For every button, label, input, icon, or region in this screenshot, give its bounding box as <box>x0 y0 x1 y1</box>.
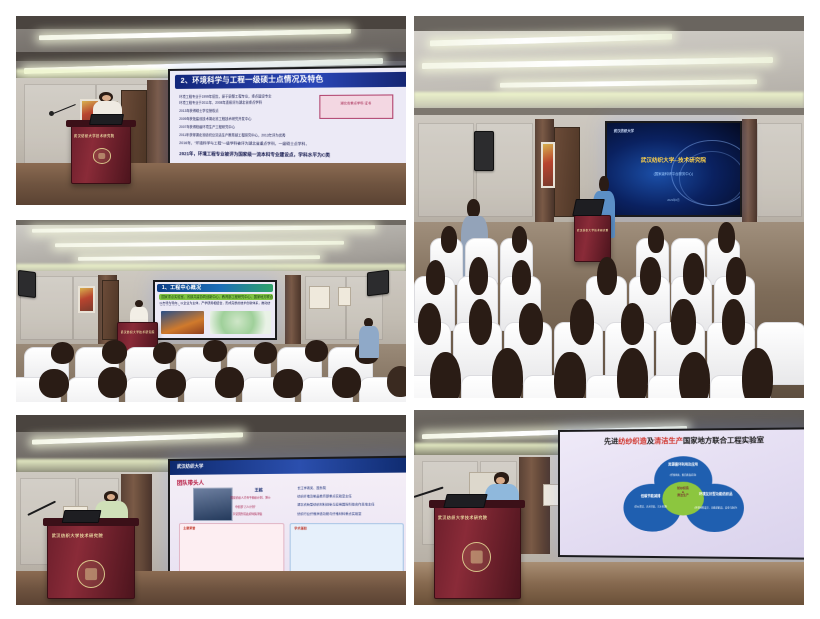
lectern: 武汉纺织大学技术研究院 <box>574 215 611 263</box>
slide-map-image <box>210 311 270 334</box>
slide-bullet: 湖北省新型纺织材料创新与应用国际科技合作基地主任 <box>297 502 374 506</box>
slide-line: 2021年，环境工程专业被评为国家级一流本科专业建设点，学科水平为C类 <box>179 151 385 159</box>
slide-line: 以市场为导向，以企业为主体，产学研用相结合，形成完整的技术创新体系，推动纺织行业… <box>159 301 270 306</box>
speaker-icon <box>18 270 36 298</box>
university-seal-icon <box>462 542 491 572</box>
slide-screen: 2、环境科学与工程一级硕士点情况及特色 环境工程专业于1999年招生，原于染整工… <box>168 65 406 175</box>
laptop-icon <box>572 199 605 216</box>
university-seal-icon <box>93 148 111 163</box>
laptop-icon <box>89 114 124 125</box>
leader-title: 享受国务院政府特殊津贴 <box>233 511 288 515</box>
laptop-icon <box>61 510 101 523</box>
lectern-label: 武汉纺织大学技术研究院 <box>577 228 608 232</box>
slide-screen: 武汉纺织大学 武汉纺织大学--技术研究院 (国家级科研平台服务中心) 2023年… <box>605 121 742 217</box>
title-part: 纺纱织造 <box>619 438 648 445</box>
slide-screen: 武汉纺织大学 团队带头人 王栋 国家纺织人才骨干组织计划、博士 中组部“万人计划… <box>168 455 406 584</box>
slide-title: 1、工程中心概况 <box>157 284 273 292</box>
speaker-icon <box>367 270 389 296</box>
venn-diagram: 资源循环利用及应用 (纤维素类、蛋白质及应用) 低碳节能减排 (纺纱清洁、无水印… <box>624 455 745 549</box>
photo-bottom-left: 武汉纺织大学 团队带头人 王栋 国家纺织人才骨干组织计划、博士 中组部“万人计划… <box>16 415 406 605</box>
slide-title: 2、环境科学与工程一级硕士点情况及特色 <box>175 72 406 89</box>
slide-certificate-stamp: 湖北省重点学科 证书 <box>319 94 393 119</box>
lectern-label: 武汉纺织大学技术研究院 <box>121 330 155 334</box>
slide-line: 2013年获得硕士学位授权点 <box>179 108 274 113</box>
speaker-icon <box>474 131 494 171</box>
photo-top-right: 武汉纺织大学 武汉纺织大学--技术研究院 (国家级科研平台服务中心) 2023年… <box>414 16 804 398</box>
slide-line: 国家重点实验室、省部共建协同创新中心、教育部工程研究中心、国家地方联合工程实验室 <box>159 294 272 299</box>
slide-heading: 团队带头人 <box>177 478 204 486</box>
photo-collage: 2、环境科学与工程一级硕士点情况及特色 环境工程专业于1999年招生，原于染整工… <box>0 0 820 619</box>
photo-top-left: 2、环境科学与工程一级硕士点情况及特色 环境工程专业于1999年招生，原于染整工… <box>16 16 406 205</box>
title-part: 清洁生产 <box>654 437 683 444</box>
leader-title: 中组部“万人计划” <box>235 504 287 508</box>
slide-title: 先进纺纱织造及清洁生产国家地方联合工程实验室 <box>568 434 804 446</box>
slide-line: 环境工程专业于2011年、2008年连续评为湖北省重点学科 <box>179 100 319 106</box>
slide-line: 环境工程专业于1999年招生，原于染整工程专业，重点建设专业 <box>179 92 319 98</box>
leader-title: 国家纺织人才骨干组织计划、博士 <box>230 495 287 499</box>
lectern: 武汉纺织大学技术研究院 <box>434 504 522 600</box>
university-logo: 武汉纺织大学 <box>614 128 634 133</box>
leader-name: 王栋 <box>233 487 285 493</box>
photo-middle-left: 1、工程中心概况 国家重点实验室、省部共建协同创新中心、教育部工程研究中心、国家… <box>16 220 406 402</box>
laptop-icon <box>443 494 487 508</box>
attendee <box>359 318 379 358</box>
lectern-label: 武汉纺织大学技术研究院 <box>438 515 517 521</box>
slide-line: 2011年获得湖北省纺织业清洁生产教育部工程研究中心，2013年评为优秀 <box>179 132 360 138</box>
university-logo: 武汉纺织大学 <box>177 463 203 469</box>
venn-sub-top: (纤维素类、蛋白质及应用) <box>654 474 712 477</box>
photo-bottom-right: 先进纺纱织造及清洁生产国家地方联合工程实验室 资源循环利用及应用 (纤维素类、蛋… <box>414 410 804 605</box>
slide-screen: 1、工程中心概况 国家重点实验室、省部共建协同创新中心、教育部工程研究中心、国家… <box>153 280 278 340</box>
lectern: 武汉纺织大学技术研究院 <box>47 521 135 599</box>
title-part: 先进 <box>604 438 618 445</box>
lectern: 武汉纺织大学技术研究院 <box>71 122 132 184</box>
slide-screen: 先进纺纱织造及清洁生产国家地方联合工程实验室 资源循环利用及应用 (纤维素类、蛋… <box>558 427 804 559</box>
university-seal-icon <box>77 560 105 588</box>
lectern-label: 武汉纺织大学技术研究院 <box>74 133 128 138</box>
slide-bullet: 长江学者奖、国务院 <box>297 485 326 489</box>
slide-line: 2007年获得校级环境生产工程研究中心 <box>179 124 299 129</box>
venn-sub-left: (纺纱清洁、无水印染、污水处理) <box>624 505 679 508</box>
title-part: 国家地方联合工程实验室 <box>683 437 764 445</box>
leader-portrait <box>193 487 232 520</box>
lectern-label: 武汉纺织大学技术研究院 <box>52 533 131 539</box>
slide-bullet: 纺织行业纤维渗透功能与纤维材料重点实验室 <box>297 511 361 515</box>
venn-center-label: 纺纱织造 & 清洁生产 <box>663 487 704 497</box>
slide-city-image <box>161 311 205 334</box>
venn-label-top: 资源循环利用及应用 <box>657 463 710 467</box>
venn-sub-right: (环保材料设计、功能纺织品、安全与防护) <box>688 507 744 510</box>
slide-line: 2009年获批建设技术湖北省工程技术研究开发中心 <box>179 116 319 121</box>
slide-line: 2016年，“环境科学与工程”一级学科被评为湖北省重点学科，一级硕士点学科， <box>179 141 370 148</box>
slide-bullet: 纺织纤维及制品教育部重点实验室主任 <box>297 494 351 498</box>
